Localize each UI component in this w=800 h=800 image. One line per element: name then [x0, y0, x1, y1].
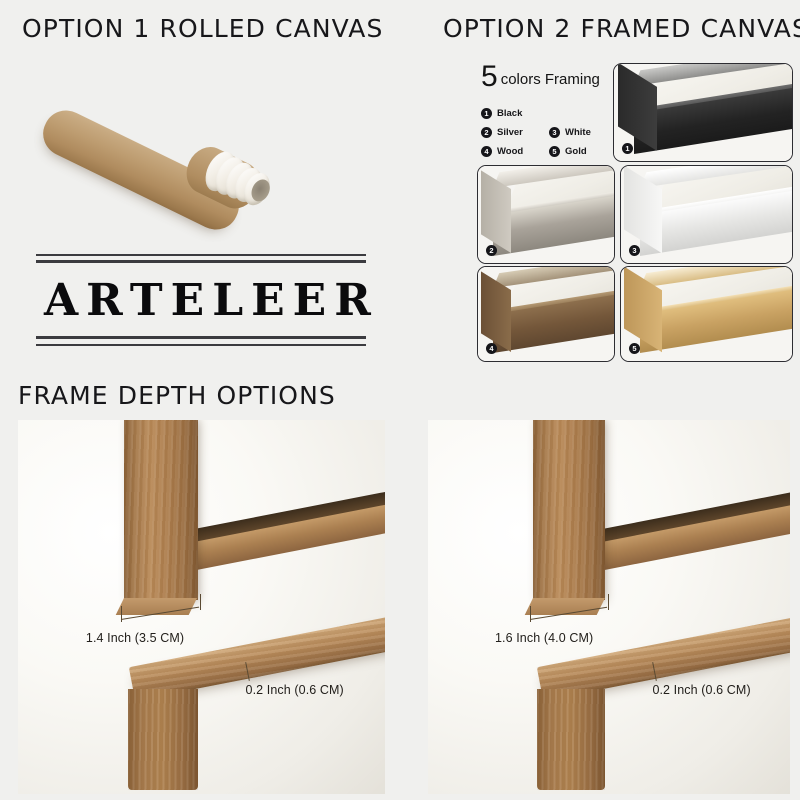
- brand-name: ARTELEER: [36, 274, 366, 328]
- option1-heading: OPTION 1 ROLLED CANVAS: [22, 14, 383, 43]
- number-badge-icon: 4: [486, 343, 497, 354]
- legend-title-text: colors Framing: [501, 71, 600, 88]
- legend-label: White: [565, 127, 591, 138]
- number-badge-icon: 2: [481, 127, 492, 138]
- legend-title: 5colors Framing: [481, 62, 611, 92]
- frame-depth-heading: FRAME DEPTH OPTIONS: [18, 381, 336, 410]
- frame-lower-leg: [128, 689, 198, 790]
- brand-logo: ARTELEER: [36, 252, 366, 352]
- number-badge-icon: 5: [629, 343, 640, 354]
- frame-swatch-wood[interactable]: 4: [477, 266, 615, 362]
- frame-corner-photo: [621, 267, 792, 361]
- legend-item-black[interactable]: 1 Black: [481, 108, 533, 119]
- frame-corner-photo: [478, 166, 614, 263]
- frame-vertical-stile: [533, 420, 605, 600]
- infographic-page: OPTION 1 ROLLED CANVAS ARTELEER OPTION 2…: [0, 0, 800, 800]
- option2-heading: OPTION 2 FRAMED CANVAS: [443, 14, 800, 43]
- frame-swatch-white[interactable]: 3: [620, 165, 793, 264]
- legend-label: Wood: [497, 146, 523, 157]
- legend-label: Gold: [565, 146, 587, 157]
- number-badge-icon: 3: [629, 245, 640, 256]
- wall-background: [18, 420, 385, 794]
- legend-row: 2 Silver 3 White: [481, 127, 611, 138]
- frame-swatch-gold[interactable]: 5: [620, 266, 793, 362]
- rolled-canvas-tube-image: [40, 58, 300, 203]
- legend-row: 4 Wood 5 Gold: [481, 146, 611, 157]
- number-badge-icon: 1: [622, 143, 633, 154]
- frame-stile-bottom-face: [525, 598, 606, 615]
- frame-depth-label: 0.2 Inch (0.6 CM): [652, 683, 750, 697]
- frame-corner-photo: [478, 267, 614, 361]
- frame-swatch-black[interactable]: 1: [613, 63, 793, 162]
- legend-row: 1 Black: [481, 108, 611, 119]
- legend-item-white[interactable]: 3 White: [549, 127, 591, 138]
- frame-depth-photo-b: 1.6 Inch (4.0 CM) 0.2 Inch (0.6 CM): [428, 420, 790, 794]
- frame-corner-photo: [621, 166, 792, 263]
- frame-width-label: 1.6 Inch (4.0 CM): [495, 631, 593, 645]
- legend-item-gold[interactable]: 5 Gold: [549, 146, 587, 157]
- frame-corner-photo: [614, 64, 792, 161]
- dimension-tick-right: [200, 594, 201, 610]
- legend-label: Black: [497, 108, 522, 119]
- number-badge-icon: 5: [549, 146, 560, 157]
- logo-rule-bottom-outer: [36, 344, 366, 346]
- frame-depth-photo-a: 1.4 Inch (3.5 CM) 0.2 Inch (0.6 CM): [18, 420, 385, 794]
- frame-stile-bottom-face: [116, 598, 198, 615]
- wall-background: [428, 420, 790, 794]
- framing-colors-legend: 5colors Framing 1 Black 2 Silver 3 White: [481, 62, 611, 157]
- logo-rule-top-outer: [36, 254, 366, 256]
- logo-rule-bottom-inner: [36, 336, 366, 339]
- legend-label: Silver: [497, 127, 523, 138]
- logo-rule-top-inner: [36, 260, 366, 263]
- frame-width-label: 1.4 Inch (3.5 CM): [86, 631, 184, 645]
- legend-color-count: 5: [481, 60, 498, 93]
- frame-swatch-silver[interactable]: 2: [477, 165, 615, 264]
- number-badge-icon: 4: [481, 146, 492, 157]
- frame-depth-label: 0.2 Inch (0.6 CM): [246, 683, 344, 697]
- frame-lower-leg: [537, 689, 606, 790]
- number-badge-icon: 2: [486, 245, 497, 256]
- frame-vertical-stile: [124, 420, 197, 600]
- legend-item-wood[interactable]: 4 Wood: [481, 146, 533, 157]
- number-badge-icon: 3: [549, 127, 560, 138]
- legend-item-silver[interactable]: 2 Silver: [481, 127, 533, 138]
- number-badge-icon: 1: [481, 108, 492, 119]
- dimension-tick-right: [608, 594, 609, 610]
